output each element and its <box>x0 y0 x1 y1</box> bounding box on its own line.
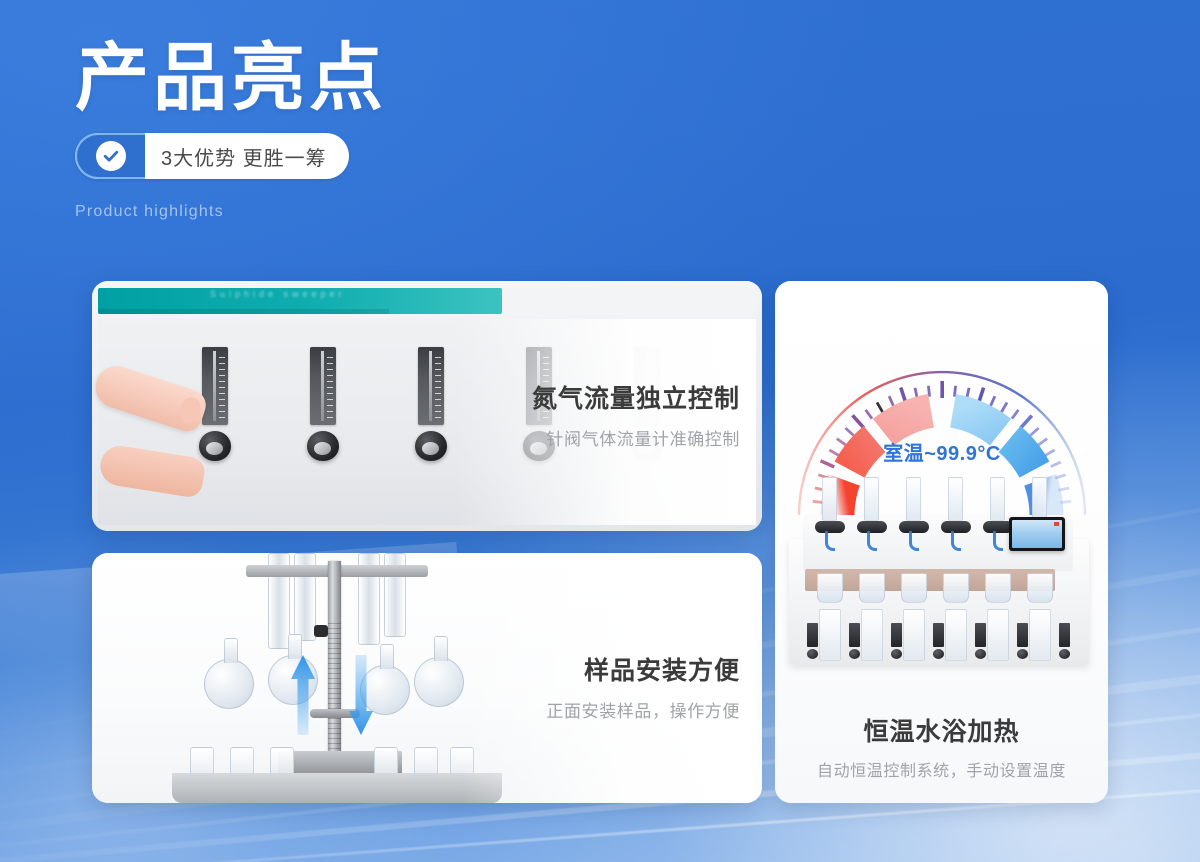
card-caption: 样品安装方便 正面安装样品，操作方便 <box>546 651 740 722</box>
flow-meter <box>310 347 339 461</box>
front-valve-knob <box>1059 649 1070 659</box>
front-flow-meter <box>1017 623 1028 647</box>
badge-icon-wrap <box>75 133 145 179</box>
front-valve-knob <box>849 649 860 659</box>
card-caption: 恒温水浴加热 自动恒温控制系统，手动设置温度 <box>775 712 1108 781</box>
reagent-bottle <box>1032 477 1047 521</box>
panel-teal-header: Sulphide sweeper <box>98 288 502 314</box>
round-flask <box>414 657 464 707</box>
rotameter-tube <box>202 347 228 425</box>
needle-valve-knob <box>307 431 339 461</box>
front-valve-knob <box>975 649 986 659</box>
reagent-bottle <box>948 477 963 521</box>
card-subtitle: 正面安装样品，操作方便 <box>546 697 740 722</box>
reagent-bottle <box>822 477 837 521</box>
front-valve-knob <box>1017 649 1028 659</box>
check-circle-icon <box>96 141 126 171</box>
reagent-bottle <box>864 477 879 521</box>
card-caption: 氮气流量独立控制 针阀气体流量计准确控制 <box>532 379 740 450</box>
card-title: 样品安装方便 <box>546 651 740 687</box>
absorption-tube <box>1029 609 1051 661</box>
front-flow-meter <box>891 623 902 647</box>
blue-tubing <box>993 531 1003 551</box>
front-flow-meter <box>1059 623 1070 647</box>
card-subtitle: 自动恒温控制系统，手动设置温度 <box>775 757 1108 781</box>
card-title: 氮气流量独立控制 <box>532 379 740 415</box>
touchscreen-screen <box>1012 520 1062 548</box>
front-valve-knob <box>891 649 902 659</box>
glassware-rig <box>182 553 492 803</box>
touchscreen-display[interactable] <box>1009 517 1065 551</box>
absorption-tube <box>987 609 1009 661</box>
reagent-column <box>899 477 929 547</box>
page-header: 产品亮点 3大优势 更胜一筹 Product highlights <box>75 42 387 221</box>
rotameter-tube <box>418 347 444 425</box>
blue-tubing <box>951 531 961 551</box>
blue-tubing <box>825 531 835 551</box>
blue-tubing <box>909 531 919 551</box>
arrow-up-icon <box>290 653 316 737</box>
reaction-flask <box>985 573 1011 603</box>
panel-header-strip <box>98 309 389 314</box>
highlight-card-water-bath[interactable]: 室温~99.9°C <box>775 281 1108 803</box>
flow-meter <box>202 347 231 461</box>
blue-tubing <box>867 531 877 551</box>
page-title: 产品亮点 <box>75 42 387 117</box>
finger-lower <box>98 443 207 499</box>
highlight-card-sample-installation[interactable]: 样品安装方便 正面安装样品，操作方便 <box>92 553 762 803</box>
absorption-tube <box>945 609 967 661</box>
round-flask <box>204 659 254 709</box>
arrow-down-icon <box>348 653 374 737</box>
page-subtitle: Product highlights <box>75 203 387 221</box>
highlight-card-nitrogen-flow[interactable]: Sulphide sweeper <box>92 281 762 531</box>
reaction-flask <box>943 573 969 603</box>
needle-valve-knob <box>415 431 447 461</box>
gauge-value-label: 室温~99.9°C <box>777 437 1107 466</box>
reagent-bottle <box>906 477 921 521</box>
reagent-column <box>815 477 845 547</box>
flow-meter <box>418 347 447 461</box>
front-flow-meter <box>849 623 860 647</box>
hand-finger <box>94 377 214 495</box>
advantage-badge: 3大优势 更胜一筹 <box>75 133 349 179</box>
rig-basin <box>172 773 502 803</box>
absorption-tube <box>903 609 925 661</box>
front-flow-meter <box>975 623 986 647</box>
needle-valve-knob <box>199 431 231 461</box>
reagent-bottle <box>990 477 1005 521</box>
panel-header-label: Sulphide sweeper <box>210 289 346 299</box>
card-title: 恒温水浴加热 <box>775 712 1108 748</box>
reagent-column <box>857 477 887 547</box>
front-flow-meter <box>933 623 944 647</box>
card-subtitle: 针阀气体流量计准确控制 <box>532 425 740 450</box>
front-flow-meter <box>807 623 818 647</box>
reaction-flask <box>817 573 843 603</box>
absorption-tube <box>861 609 883 661</box>
reaction-flask <box>1027 573 1053 603</box>
reaction-flask <box>859 573 885 603</box>
front-valve-knob <box>933 649 944 659</box>
absorption-tube <box>819 609 841 661</box>
reagent-column <box>941 477 971 547</box>
badge-label: 3大优势 更胜一筹 <box>145 133 349 179</box>
front-valve-knob <box>807 649 818 659</box>
reaction-flask <box>901 573 927 603</box>
water-bath-instrument <box>781 477 1103 693</box>
rig-clamp-knob <box>314 625 328 637</box>
finger-upper <box>92 361 210 436</box>
rotameter-tube <box>310 347 336 425</box>
